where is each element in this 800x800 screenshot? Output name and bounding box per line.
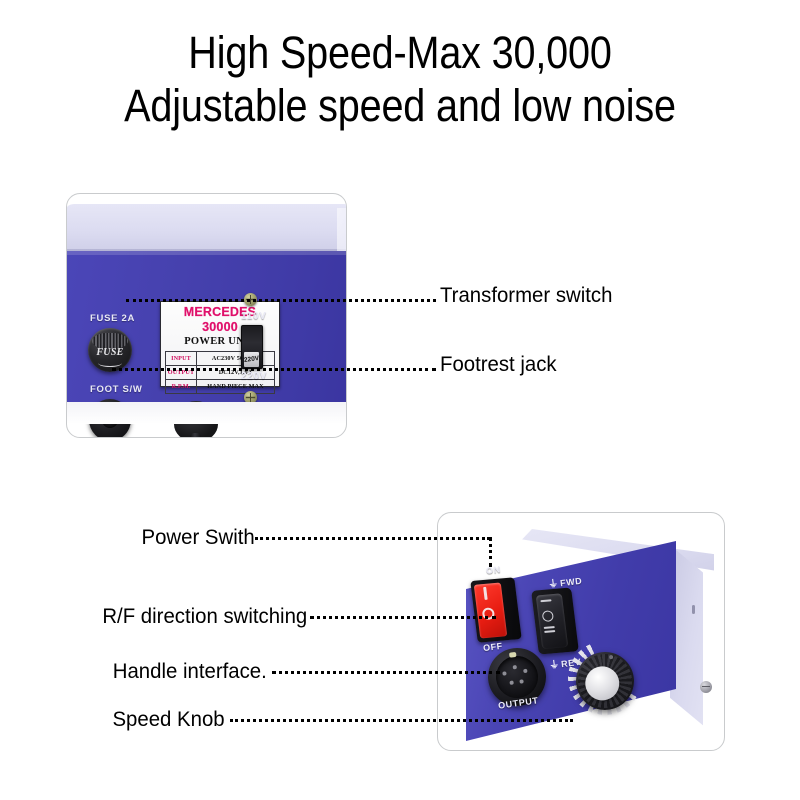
callout-handle-interface: Handle interface. [113, 659, 267, 684]
socket-notch [509, 652, 517, 658]
leader-drop-power-switch [489, 537, 492, 567]
voltage-switch-value: 220V [243, 351, 260, 368]
device-base-shadow [67, 402, 346, 424]
power-switch-rocker[interactable] [470, 577, 521, 642]
fuse-holder-knob[interactable]: FUSE [88, 328, 132, 372]
callout-transformer-switch: Transformer switch [440, 283, 612, 308]
transformer-voltage-switch[interactable]: 220V [241, 325, 263, 369]
power-on-label: ON [485, 564, 501, 576]
title-line-1: High Speed-Max 30,000 [48, 26, 752, 79]
page-title: High Speed-Max 30,000 Adjustable speed a… [48, 26, 752, 132]
callout-power-switch: Power Swith [142, 525, 255, 550]
leader-line-power-switch [255, 537, 490, 540]
callout-direction-switching: R/F direction switching [102, 604, 307, 629]
title-line-2: Adjustable speed and low noise [48, 79, 752, 132]
device-side-face [670, 545, 724, 741]
callout-speed-knob: Speed Knob [113, 707, 225, 732]
voltage-220-label: 220V [241, 371, 267, 382]
fuse-knob-text: FUSE [88, 347, 132, 358]
fuse-label: FUSE 2A [90, 313, 135, 324]
foot-switch-label: FOOT S/W [90, 384, 143, 395]
spec-key: R.P.M. [166, 380, 197, 394]
infographic-page: High Speed-Max 30,000 Adjustable speed a… [0, 0, 800, 800]
bottom-device-photo-card: ON OFF ⏚ FWD ⏚ REV [437, 512, 725, 751]
voltage-110-label: 110V [241, 311, 267, 322]
bottom-device-image: ON OFF ⏚ FWD ⏚ REV [438, 513, 724, 750]
power-cord [190, 433, 201, 437]
leader-line-direction-switching [310, 616, 496, 619]
top-device-photo-card: FUSE 2A FUSE FOOT S/W MERCEDES 30000 [66, 193, 347, 438]
side-vent-slot [692, 605, 695, 614]
voltage-switch-slider[interactable]: 220V [244, 352, 259, 367]
direction-switch-rocker[interactable] [531, 587, 579, 654]
leader-line-handle-interface [272, 671, 500, 674]
fuse-knob-arrow-icon [98, 359, 122, 367]
top-device-image: FUSE 2A FUSE FOOT S/W MERCEDES 30000 [67, 194, 346, 437]
leader-line-transformer-switch [126, 299, 436, 302]
ground-symbol-icon: ⏚ [548, 655, 560, 671]
socket-inner [494, 654, 541, 701]
leader-line-speed-knob [230, 719, 573, 722]
callout-footrest-jack: Footrest jack [440, 352, 557, 377]
device-top-face [67, 204, 346, 252]
leader-line-footrest-jack [112, 368, 436, 371]
device-front-panel: FUSE 2A FUSE FOOT S/W MERCEDES 30000 [67, 251, 346, 406]
spec-key: INPUT [166, 352, 197, 366]
screw-icon [700, 681, 712, 693]
